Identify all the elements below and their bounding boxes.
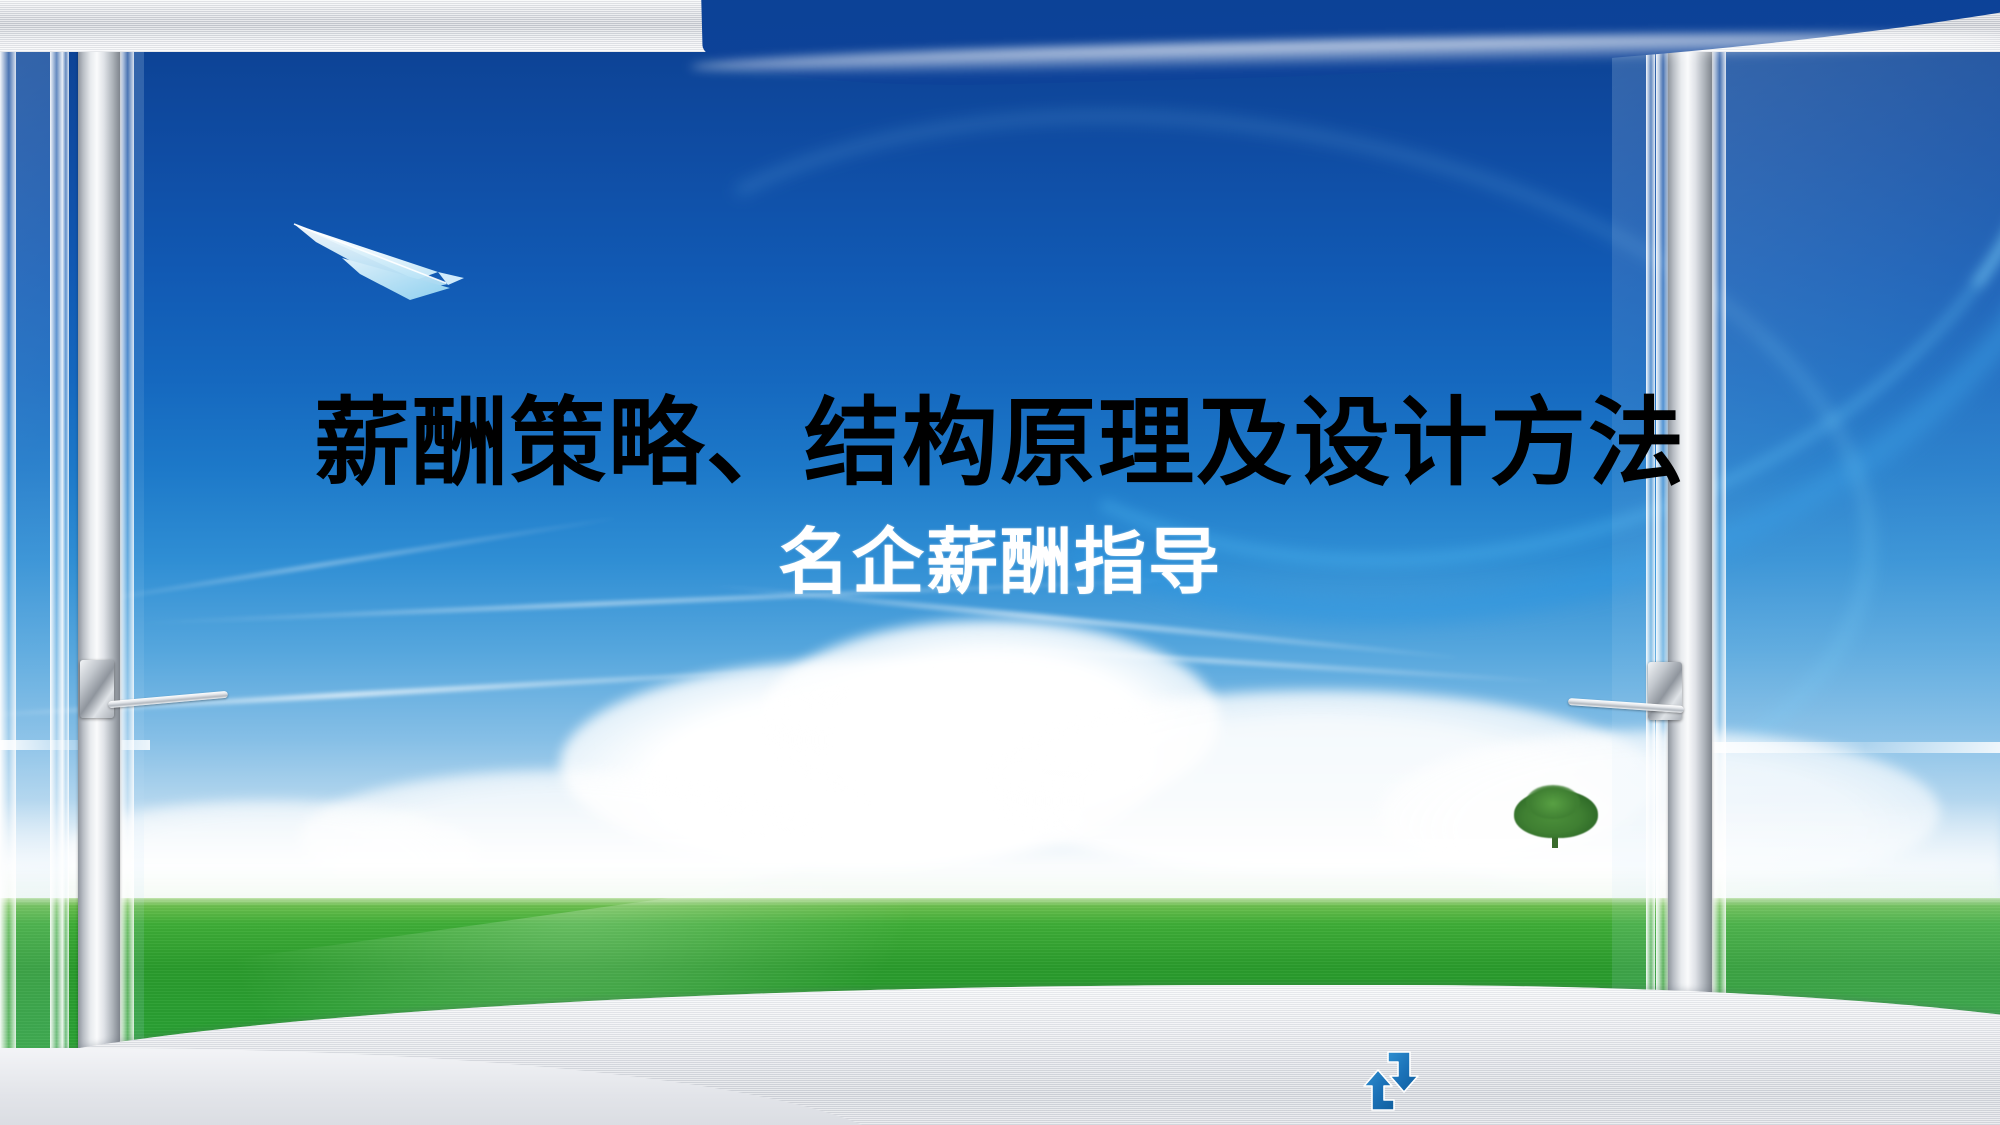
title-block: 薪酬策略、结构原理及设计方法 名企薪酬指导 xyxy=(0,390,2000,603)
right-transom-bar xyxy=(1700,742,2000,753)
handle-lever xyxy=(108,691,228,708)
handle-plate xyxy=(80,660,114,718)
slide-subtitle: 名企薪酬指导 xyxy=(0,524,2000,603)
left-window-handle[interactable] xyxy=(80,660,240,730)
paper-airplane-icon xyxy=(288,196,488,306)
lone-tree-icon xyxy=(1510,790,1602,852)
right-window-handle[interactable] xyxy=(1612,662,1782,732)
cyclic-arrows-logo[interactable] xyxy=(1352,1046,1430,1116)
left-transom-bar xyxy=(0,740,150,750)
tree-canopy-top xyxy=(1526,785,1580,819)
presentation-slide: 薪酬策略、结构原理及设计方法 名企薪酬指导 xyxy=(0,0,2000,1125)
slide-title: 薪酬策略、结构原理及设计方法 xyxy=(0,390,2000,498)
